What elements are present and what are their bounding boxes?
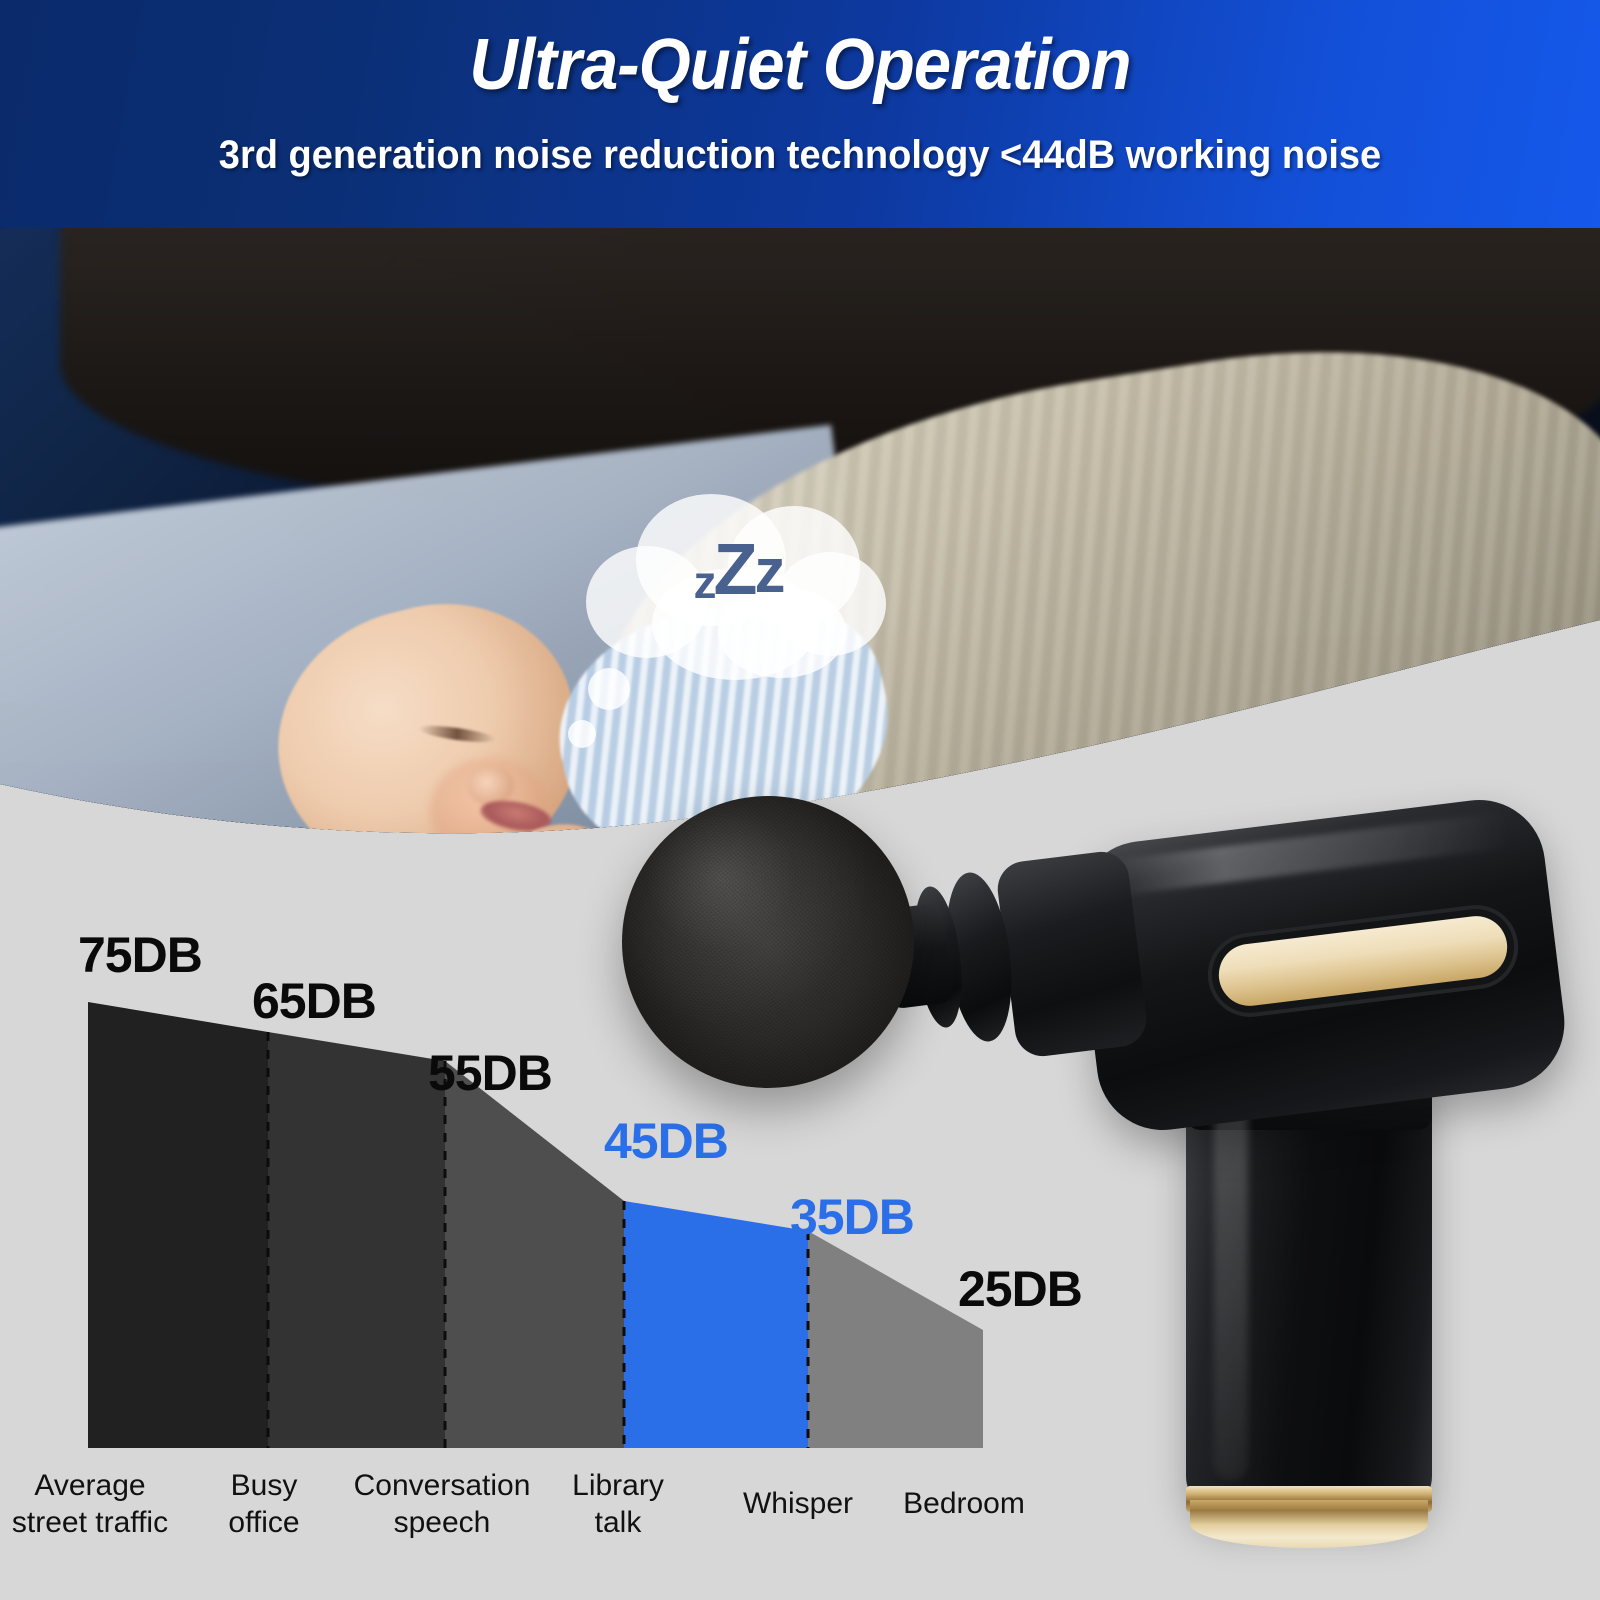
page-subtitle: 3rd generation noise reduction technolog… bbox=[40, 133, 1560, 178]
bar-segment-1 bbox=[268, 1032, 445, 1448]
page-title: Ultra-Quiet Operation bbox=[56, 24, 1544, 106]
category-label-3: Library talk bbox=[542, 1468, 694, 1541]
header-banner: Ultra-Quiet Operation 3rd generation noi… bbox=[0, 0, 1600, 228]
sleep-zzz-text: zZz bbox=[578, 534, 898, 606]
sleep-cloud-icon: zZz bbox=[578, 490, 898, 690]
bar-segment-4 bbox=[808, 1231, 983, 1448]
sleep-bubble-small bbox=[568, 720, 596, 748]
category-label-1: Busy office bbox=[180, 1468, 348, 1541]
bar-segment-0 bbox=[88, 1002, 268, 1448]
z-glyph-big: z bbox=[754, 537, 782, 606]
db-value-label-3: 45DB bbox=[604, 1112, 728, 1170]
db-value-label-1: 65DB bbox=[252, 972, 376, 1030]
z-glyph-mid: Z bbox=[714, 530, 755, 610]
category-label-4: Whisper bbox=[716, 1486, 880, 1523]
bar-segment-3 bbox=[624, 1201, 808, 1448]
z-glyph-small: z bbox=[694, 556, 714, 608]
noise-level-chart: 75DB 65DB 55DB 45DB 35DB 25DB Average st… bbox=[0, 848, 1600, 1600]
category-label-5: Bedroom bbox=[876, 1486, 1052, 1523]
bar-segment-2 bbox=[445, 1061, 624, 1448]
category-label-2: Conversation speech bbox=[348, 1468, 536, 1541]
sleep-bubble-large bbox=[588, 668, 630, 710]
category-label-0: Average street traffic bbox=[0, 1468, 180, 1541]
db-value-label-2: 55DB bbox=[428, 1044, 552, 1102]
baby-sleeping-photo: zZz bbox=[0, 228, 1600, 848]
infographic-page: Ultra-Quiet Operation 3rd generation noi… bbox=[0, 0, 1600, 1600]
db-value-label-4: 35DB bbox=[790, 1188, 914, 1246]
db-value-label-0: 75DB bbox=[78, 926, 202, 984]
db-value-label-5: 25DB bbox=[958, 1260, 1082, 1318]
